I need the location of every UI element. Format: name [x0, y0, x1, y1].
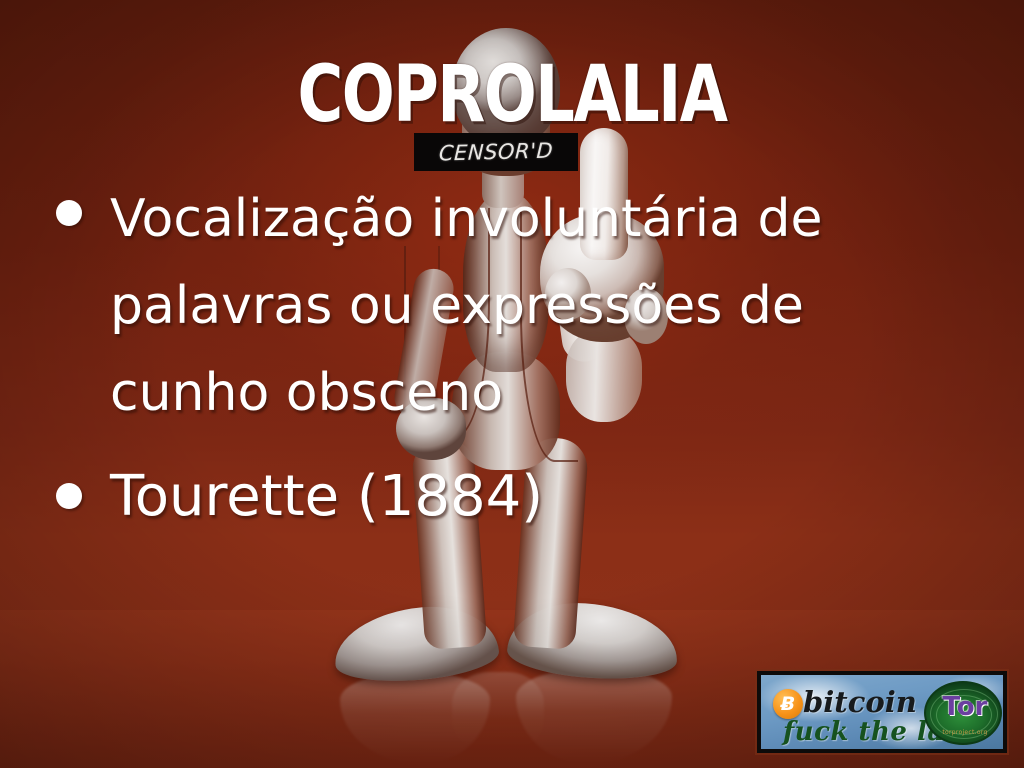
bitcoin-logo-icon: Ƀ: [773, 689, 803, 719]
presentation-slide: COPROLALIA CENSOR'D Vocalização involunt…: [0, 0, 1024, 768]
sticker-bitcoin-word: bitcoin: [803, 686, 917, 718]
censor-bar: CENSOR'D: [414, 133, 578, 171]
slide-content: COPROLALIA CENSOR'D Vocalização involunt…: [0, 0, 1024, 768]
tor-subtitle: torproject.org: [926, 729, 1002, 737]
bullet-text: Vocalização involuntária de palavras ou …: [110, 176, 956, 437]
bullet-text: Tourette (1884): [110, 461, 956, 533]
bullet-dot-icon: [56, 483, 82, 509]
list-item: Vocalização involuntária de palavras ou …: [56, 176, 956, 437]
list-item: Tourette (1884): [56, 461, 956, 533]
bullet-dot-icon: [56, 200, 82, 226]
censor-label: CENSOR'D: [438, 139, 553, 166]
slide-title: COPROLALIA: [102, 56, 921, 134]
bullet-list: Vocalização involuntária de palavras ou …: [56, 176, 956, 541]
tor-wordmark: Tor: [926, 693, 1002, 721]
bitcoin-tor-sticker-banner: Ƀ bitcoin & fuck the law Tor torproject.…: [757, 671, 1007, 753]
tor-onion-logo-icon: Tor torproject.org: [924, 681, 1002, 745]
